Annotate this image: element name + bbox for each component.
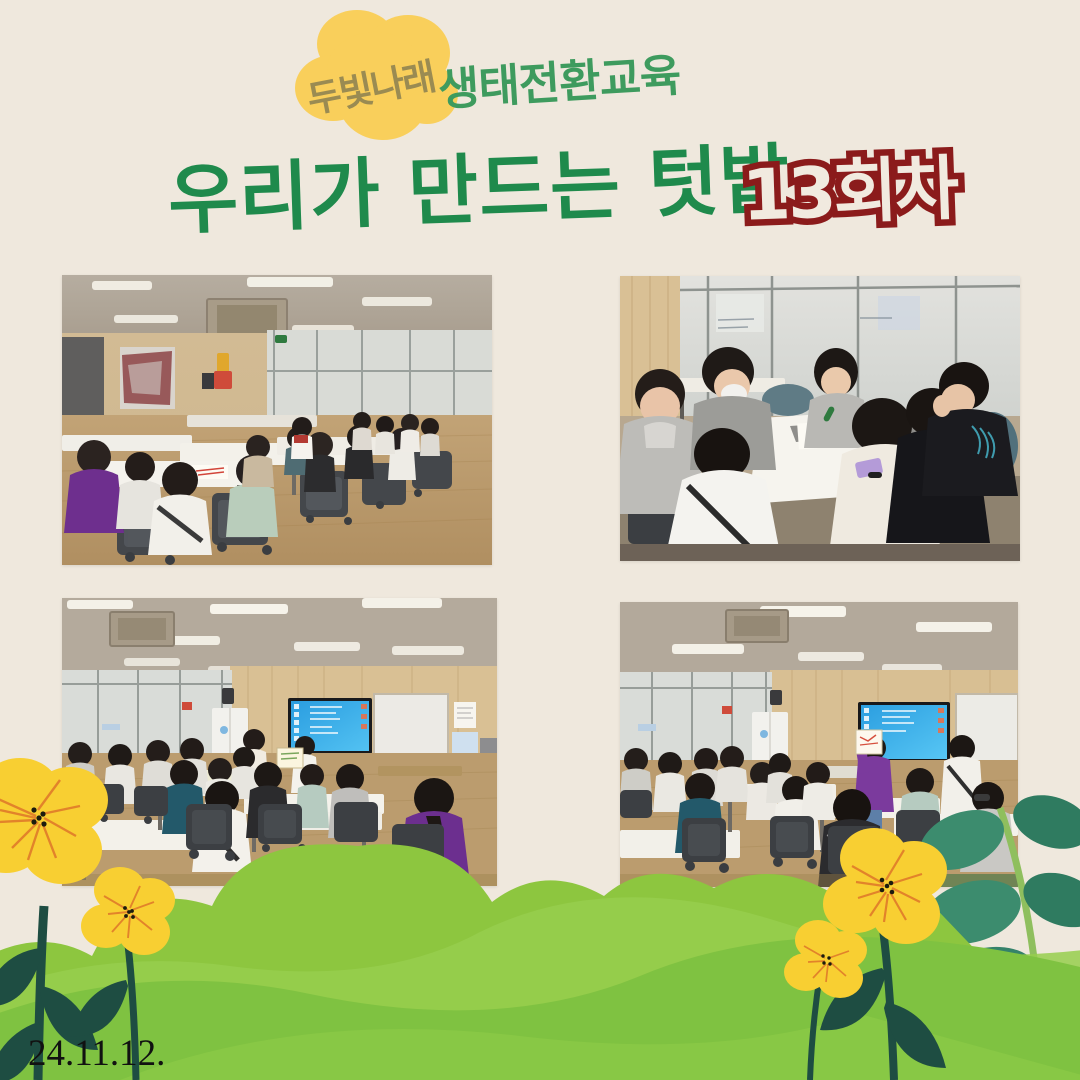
photo-presentation-screen xyxy=(62,598,497,886)
poster-canvas: 두빛나래 생태전환교육 우리가 만드는 텃밭 13회차 xyxy=(0,0,1080,1080)
page-title: 우리가 만드는 텃밭 xyxy=(166,129,791,251)
photo-presentation-poster xyxy=(620,602,1018,887)
session-number-badge: 13회차 xyxy=(740,142,957,241)
poster-title-row: 우리가 만드는 텃밭 13회차 xyxy=(0,140,1080,250)
program-subtitle: 생태전환교육 xyxy=(436,45,682,122)
date-label: 24.11.12. xyxy=(28,1032,165,1076)
flower-right-small xyxy=(784,920,867,1080)
photo-classroom-group-tables xyxy=(62,275,492,565)
photo-students-round-discussion xyxy=(620,276,1020,561)
